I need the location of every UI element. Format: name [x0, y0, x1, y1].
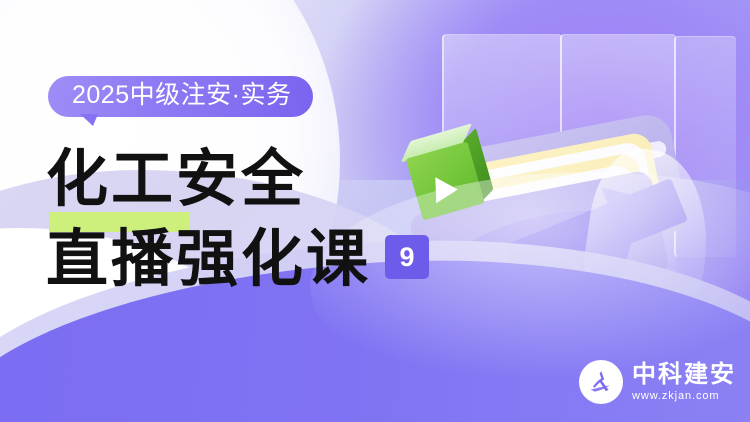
page-title-line-2: 直播强化课9 [46, 228, 466, 292]
title-line-2-text: 直播强化课 [46, 225, 371, 294]
page-title-line-1: 化工安全 [46, 148, 466, 212]
logo-text-group: 中科建安 www.zkjan.com [632, 363, 736, 402]
course-promo-banner: 2025中级注安·实务 化工安全 直播强化课9 中科建安 www.zkjan.c… [0, 0, 750, 422]
title-line-1-text: 化工安全 [46, 145, 306, 214]
title-block: 化工安全 直播强化课9 [46, 148, 466, 293]
brand-logo: 中科建安 www.zkjan.com [579, 360, 736, 404]
zkjan-mark-icon [579, 360, 623, 404]
logo-company-name: 中科建安 [632, 363, 736, 387]
episode-number-badge: 9 [385, 235, 429, 279]
logo-website-url: www.zkjan.com [632, 391, 736, 402]
course-category-badge: 2025中级注安·实务 [48, 76, 313, 117]
